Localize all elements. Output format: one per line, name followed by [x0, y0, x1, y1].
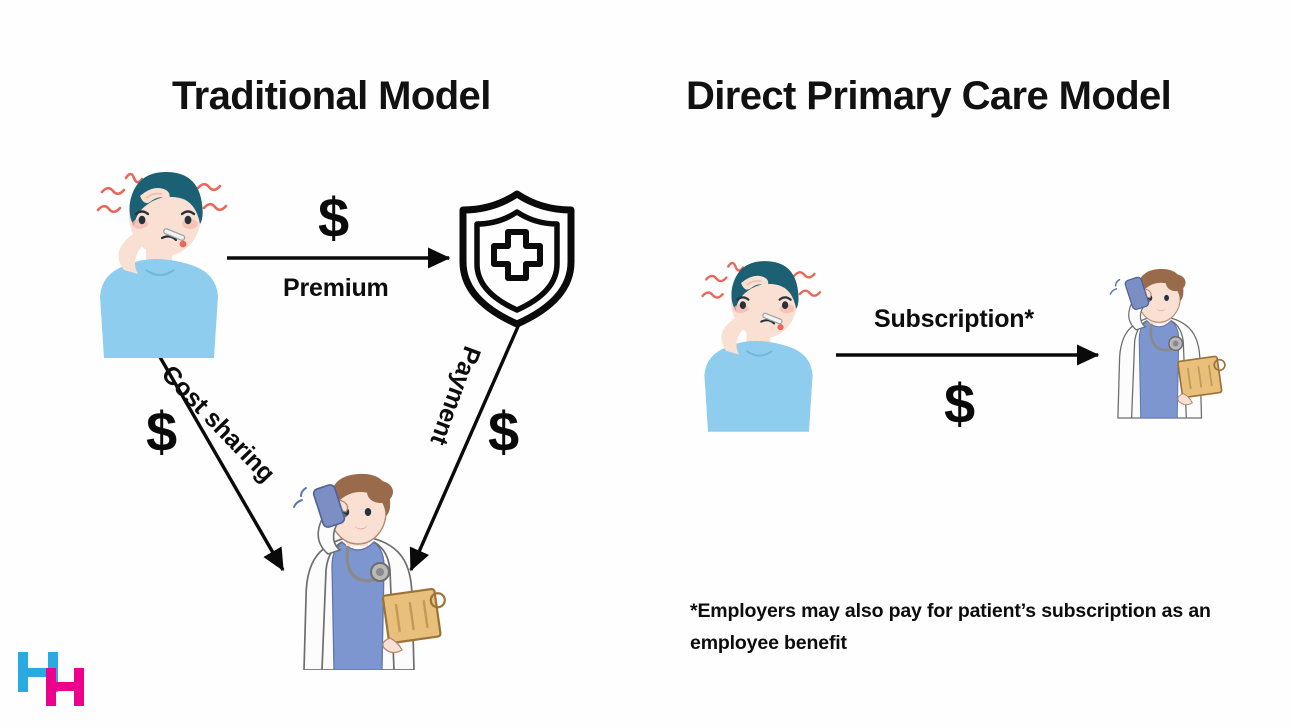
money-symbol-cost-sharing: $: [146, 404, 177, 460]
infographic-canvas: Traditional Model Direct Primary Care Mo…: [0, 0, 1292, 727]
money-symbol-subscription: $: [944, 376, 975, 432]
page-title-traditional-model: Traditional Model: [172, 74, 491, 119]
doctor-illustration-left: [262, 470, 462, 670]
money-symbol-payment: $: [488, 404, 519, 460]
sick-patient-illustration-right: [686, 248, 842, 432]
money-symbol-premium: $: [318, 190, 349, 246]
flow-label-premium: Premium: [283, 274, 389, 303]
doctor-illustration-right: [1086, 250, 1238, 434]
flow-label-subscription: Subscription*: [874, 305, 1034, 334]
footnote-employer-subscription: *Employers may also pay for patient’s su…: [690, 596, 1230, 659]
sick-patient-illustration-left: [80, 158, 250, 358]
page-title-direct-primary-care-model: Direct Primary Care Model: [686, 74, 1171, 119]
insurance-shield-icon: [452, 188, 582, 328]
logo-letter-h-magenta: [46, 668, 84, 706]
hh-monogram-logo: [16, 648, 94, 710]
flow-label-payment: Payment: [424, 342, 486, 449]
